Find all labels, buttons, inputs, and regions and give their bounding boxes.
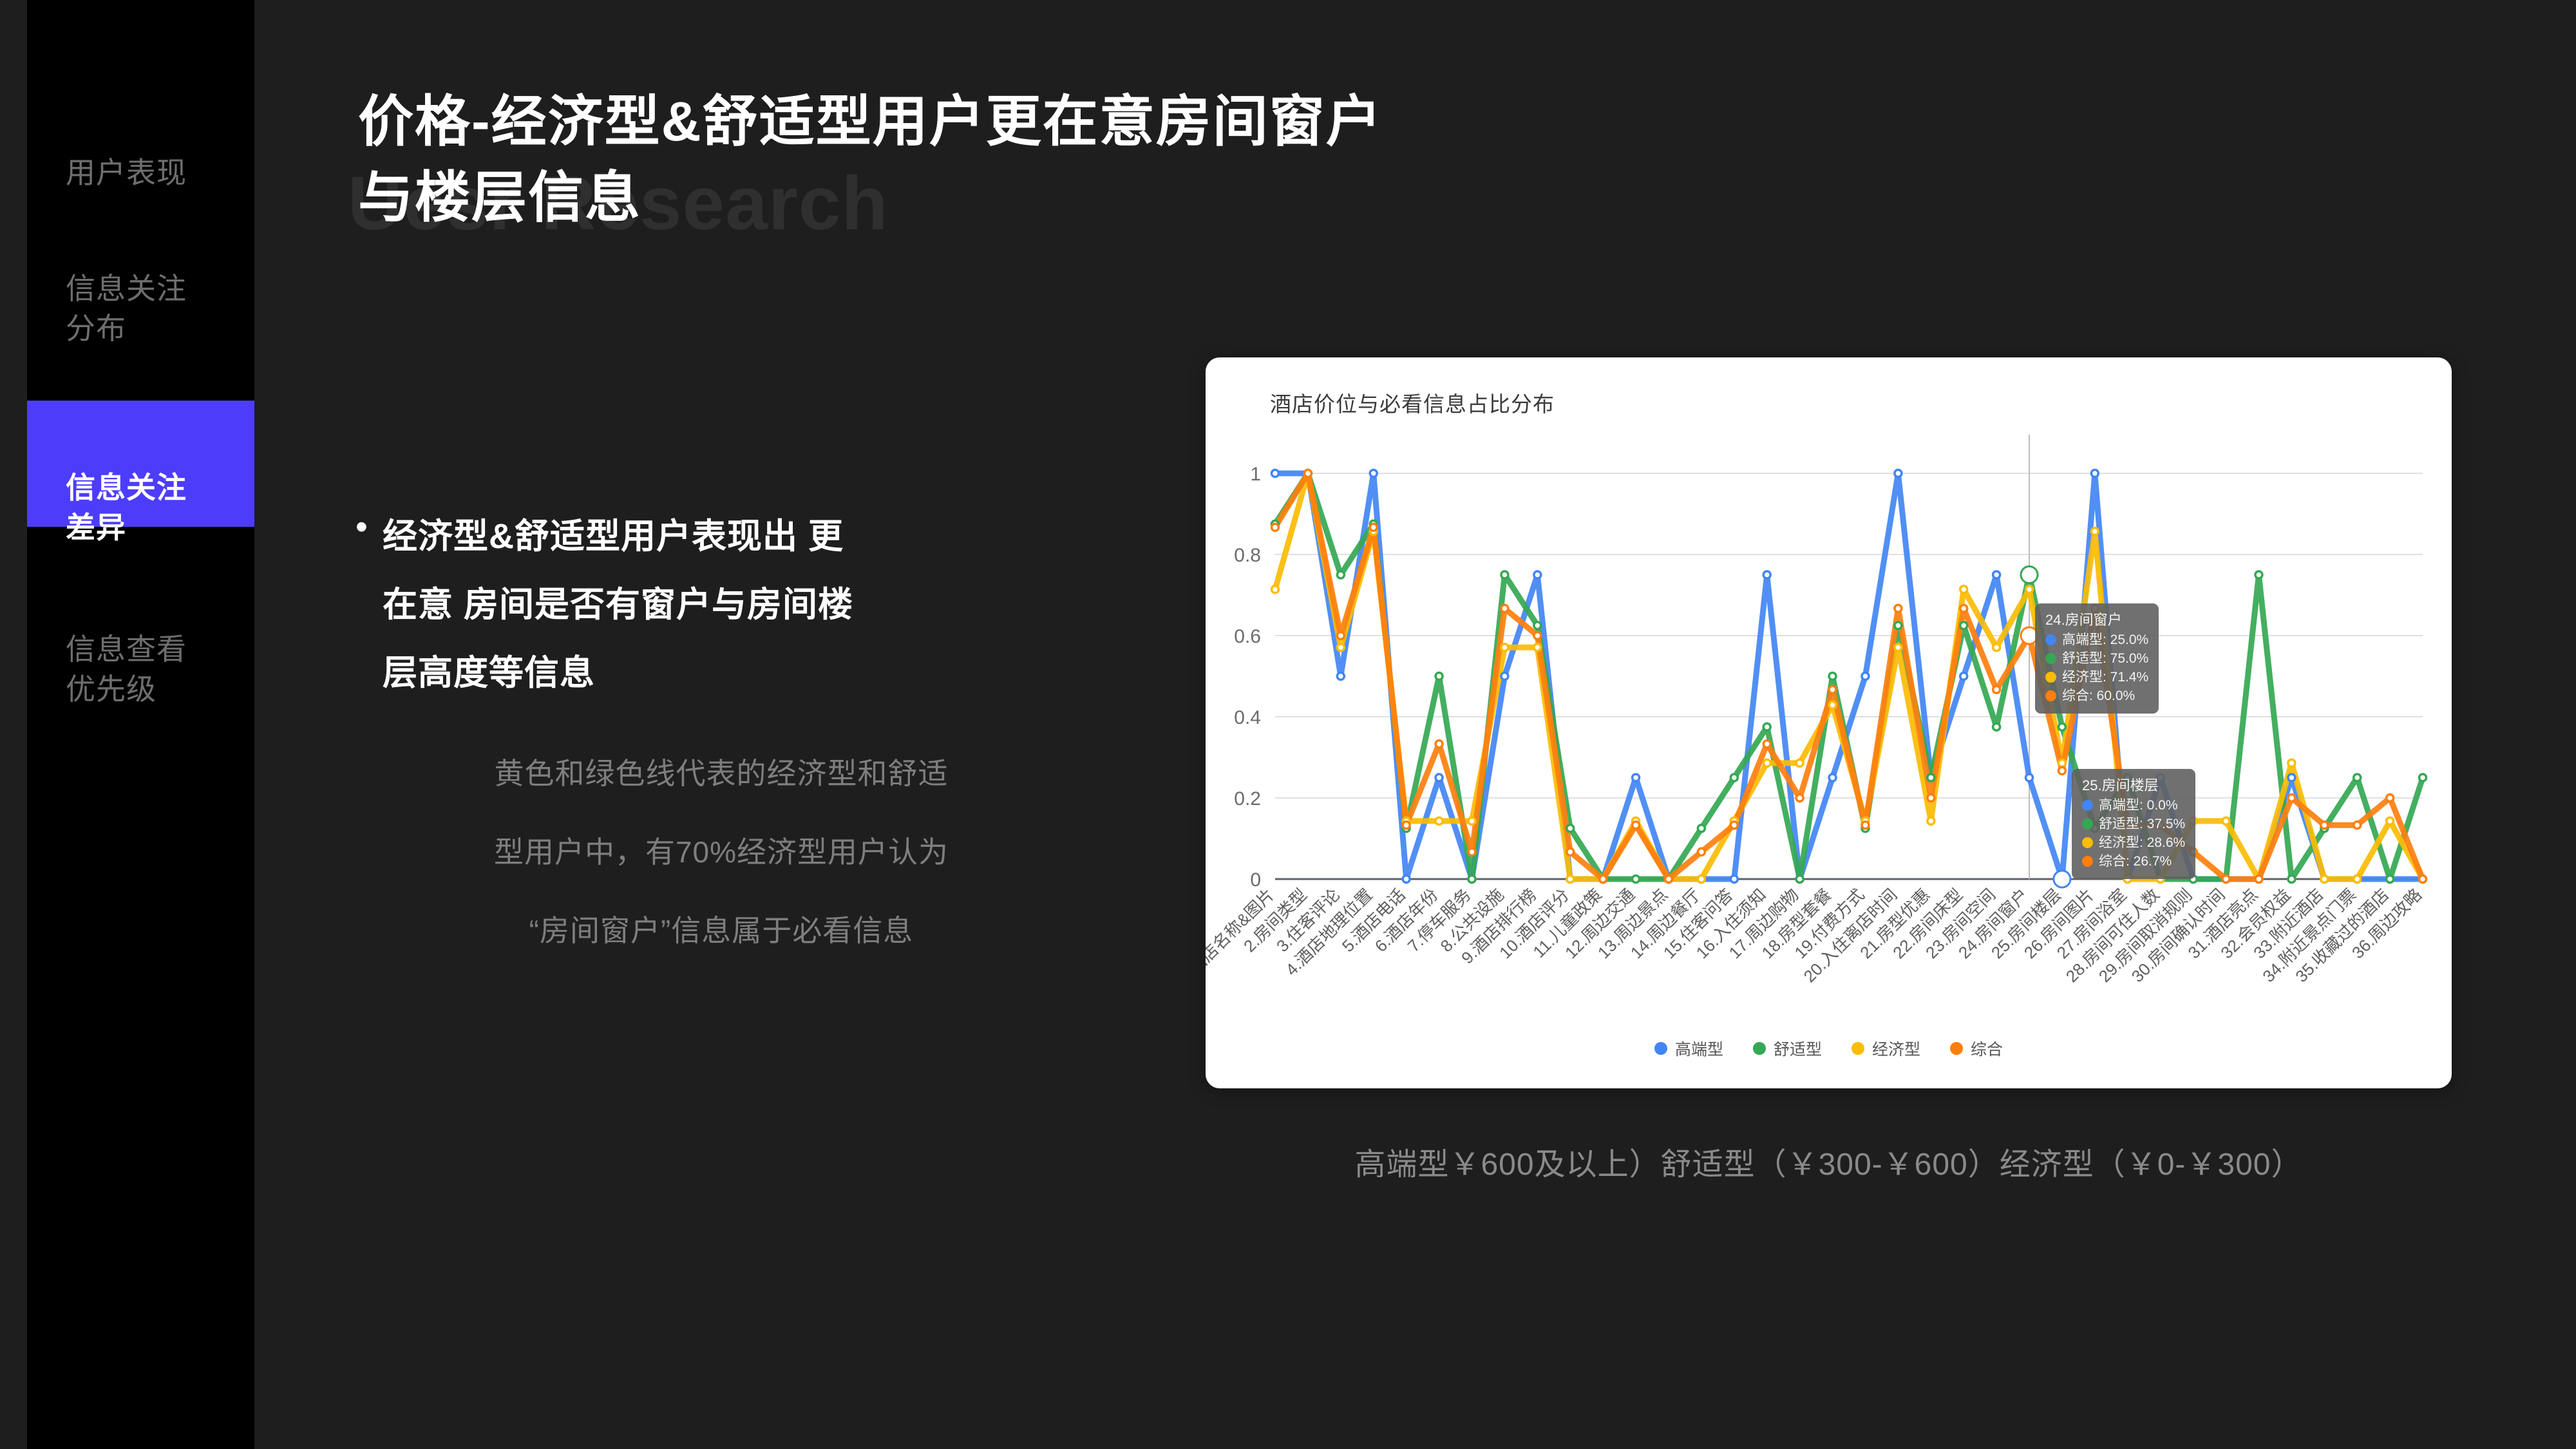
tooltip-row: 高端型: 0.0% [2082, 796, 2185, 815]
data-point[interactable] [1337, 673, 1344, 680]
tooltip-row: 高端型: 25.0% [2045, 630, 2148, 649]
key-finding-block: • 经济型&舒适型用户表现出 更 在意 房间是否有窗户与房间楼 层高度等信息 [355, 502, 1032, 707]
data-point[interactable] [1370, 470, 1377, 477]
chart-tooltip-room-floor: 25.房间楼层 高端型: 0.0% 舒适型: 37.5% 经济型: 28.6% … [2072, 769, 2195, 879]
data-point[interactable] [2354, 774, 2361, 781]
data-point[interactable] [1927, 774, 1935, 781]
data-point[interactable] [2222, 817, 2230, 824]
data-point[interactable] [1993, 686, 2000, 693]
tooltip-row: 经济型: 28.6% [2082, 833, 2185, 852]
tooltip-row: 舒适型: 37.5% [2082, 815, 2185, 833]
y-axis-tick-label: 1 [1250, 464, 1261, 485]
legend-item-premium[interactable]: 高端型 [1654, 1037, 1723, 1060]
series-color-dot-icon [2082, 837, 2093, 848]
data-point[interactable] [1993, 644, 2000, 651]
data-point[interactable] [1501, 571, 1508, 578]
legend-label: 高端型 [1675, 1037, 1723, 1060]
sidebar-item-info-view-priority[interactable]: 信息查看 优先级 [27, 589, 254, 709]
data-point[interactable] [1829, 701, 1836, 708]
data-point[interactable] [1337, 644, 1344, 651]
data-point[interactable] [1829, 774, 1836, 781]
data-point[interactable] [2288, 876, 2295, 883]
data-point[interactable] [2058, 767, 2065, 774]
data-point[interactable] [1895, 644, 1902, 651]
legend-label: 舒适型 [1774, 1037, 1822, 1060]
data-point[interactable] [1698, 848, 1705, 855]
data-point[interactable] [1895, 622, 1902, 629]
data-point[interactable] [1468, 817, 1475, 824]
data-point[interactable] [2420, 774, 2427, 781]
data-point[interactable] [1665, 876, 1672, 883]
data-point[interactable] [2321, 822, 2328, 829]
data-point[interactable] [1468, 876, 1475, 883]
data-point[interactable] [1993, 723, 2000, 730]
data-point[interactable] [2387, 876, 2394, 883]
data-point[interactable] [2387, 817, 2394, 824]
data-point[interactable] [1534, 571, 1541, 578]
data-point[interactable] [2288, 795, 2295, 802]
data-point[interactable] [2420, 876, 2427, 883]
data-point[interactable] [1730, 822, 1738, 829]
tooltip-entry: 高端型: 0.0% [2099, 796, 2178, 815]
data-point[interactable] [1698, 825, 1705, 832]
data-point[interactable] [2387, 795, 2394, 802]
y-axis-tick-label: 0.4 [1234, 707, 1261, 728]
data-point[interactable] [1763, 723, 1770, 730]
data-point[interactable] [1272, 470, 1279, 477]
data-point[interactable] [1435, 741, 1443, 748]
tooltip-row: 舒适型: 75.0% [2045, 649, 2148, 668]
legend-item-economy[interactable]: 经济型 [1851, 1037, 1920, 1060]
data-point[interactable] [1698, 876, 1705, 883]
data-point[interactable] [1370, 524, 1377, 531]
legend-color-dot-icon [1654, 1042, 1667, 1055]
data-point[interactable] [1435, 673, 1443, 680]
data-point[interactable] [2091, 470, 2098, 477]
series-color-dot-icon [2045, 634, 2056, 645]
series-color-dot-icon [2045, 672, 2056, 683]
data-point[interactable] [1567, 825, 1574, 832]
chart-tooltip-room-window: 24.房间窗户 高端型: 25.0% 舒适型: 75.0% 经济型: 71.4%… [2035, 603, 2159, 714]
y-axis-tick-label: 0.6 [1234, 626, 1261, 647]
data-point[interactable] [2288, 774, 2295, 781]
page-title: 价格-经济型&舒适型用户更在意房间窗户 与楼层信息 [358, 84, 1904, 236]
data-point[interactable] [2354, 876, 2361, 883]
data-point[interactable] [2288, 759, 2295, 766]
data-point[interactable] [1633, 822, 1640, 829]
data-point[interactable] [1960, 622, 1967, 629]
series-color-dot-icon [2082, 800, 2093, 811]
sidebar-item-user-performance[interactable]: 用户表现 [27, 113, 254, 193]
data-point[interactable] [1960, 586, 1967, 593]
data-point[interactable] [1730, 876, 1738, 883]
tooltip-entry: 舒适型: 37.5% [2099, 815, 2185, 833]
data-point[interactable] [2222, 876, 2230, 883]
legend-color-dot-icon [1753, 1042, 1766, 1055]
legend-color-dot-icon [1950, 1042, 1963, 1055]
data-point[interactable] [2026, 774, 2033, 781]
data-point[interactable] [2255, 571, 2262, 578]
data-point[interactable] [1567, 876, 1574, 883]
data-point[interactable] [1829, 686, 1836, 693]
legend-label: 综合 [1971, 1037, 2003, 1060]
legend-item-overall[interactable]: 综合 [1950, 1037, 2003, 1060]
data-point[interactable] [1796, 876, 1803, 883]
data-point[interactable] [1567, 848, 1574, 855]
tooltip-entry: 经济型: 71.4% [2062, 668, 2148, 687]
data-point[interactable] [1927, 817, 1935, 824]
sidebar-item-label: 用户表现 [66, 156, 187, 189]
data-point[interactable] [2091, 528, 2098, 535]
chart-legend: 高端型 舒适型 经济型 综合 [1206, 1037, 2452, 1060]
data-point[interactable] [1763, 741, 1770, 748]
series-color-dot-icon [2082, 819, 2093, 829]
data-point[interactable] [1730, 774, 1738, 781]
data-point[interactable] [1501, 605, 1508, 612]
data-point[interactable] [1895, 470, 1902, 477]
data-point[interactable] [2321, 876, 2328, 883]
highlighted-data-point[interactable] [2054, 871, 2070, 887]
data-point[interactable] [1337, 571, 1344, 578]
supporting-note-text: 黄色和绿色线代表的经济型和舒适 型用户中，有70%经济型用户认为 “房间窗户”信… [399, 734, 1043, 970]
data-point[interactable] [1501, 673, 1508, 680]
tooltip-entry: 综合: 60.0% [2062, 687, 2135, 705]
data-point[interactable] [1796, 759, 1803, 766]
data-point[interactable] [1895, 605, 1902, 612]
tooltip-entry: 经济型: 28.6% [2099, 833, 2185, 852]
chart-plot-area[interactable]: 00.20.40.60.811.酒店名称&图片2.房间类型3.住客评论4.酒店地… [1206, 357, 2452, 1088]
highlighted-data-point[interactable] [2021, 567, 2038, 583]
data-point[interactable] [1960, 605, 1967, 612]
legend-color-dot-icon [1851, 1042, 1864, 1055]
data-point[interactable] [1337, 632, 1344, 639]
y-axis-tick-label: 0.8 [1234, 545, 1261, 566]
data-point[interactable] [1534, 622, 1541, 629]
sidebar-item-label: 信息关注 分布 [66, 272, 187, 345]
data-point[interactable] [2255, 876, 2262, 883]
series-color-dot-icon [2045, 690, 2056, 701]
data-point[interactable] [1272, 586, 1279, 593]
sidebar-item-label: 信息查看 优先级 [66, 632, 187, 706]
data-point[interactable] [2354, 822, 2361, 829]
data-point[interactable] [2058, 759, 2065, 766]
data-point[interactable] [1435, 774, 1443, 781]
data-point[interactable] [2058, 723, 2065, 730]
tooltip-entry: 高端型: 25.0% [2062, 630, 2148, 649]
data-point[interactable] [1534, 644, 1541, 651]
data-point[interactable] [1763, 571, 1770, 578]
data-point[interactable] [1862, 673, 1869, 680]
y-axis-tick-label: 0.2 [1234, 788, 1261, 810]
y-axis-tick-label: 0 [1250, 869, 1261, 891]
data-point[interactable] [1600, 876, 1607, 883]
data-point[interactable] [1403, 876, 1410, 883]
data-point[interactable] [1796, 795, 1803, 802]
key-finding-text: 经济型&舒适型用户表现出 更 在意 房间是否有窗户与房间楼 层高度等信息 [383, 502, 853, 707]
data-point[interactable] [1633, 774, 1640, 781]
data-point[interactable] [1403, 822, 1410, 829]
data-point[interactable] [1633, 876, 1640, 883]
data-point[interactable] [1435, 817, 1443, 824]
data-point[interactable] [1993, 571, 2000, 578]
data-point[interactable] [1763, 759, 1770, 766]
data-point[interactable] [2026, 586, 2033, 593]
legend-label: 经济型 [1872, 1037, 1920, 1060]
sidebar-item-label: 信息关注 差异 [66, 471, 187, 544]
data-point[interactable] [1927, 795, 1935, 802]
data-point[interactable] [1829, 673, 1836, 680]
line-chart-svg[interactable]: 00.20.40.60.811.酒店名称&图片2.房间类型3.住客评论4.酒店地… [1206, 357, 2452, 1088]
sidebar-item-info-focus-distribution[interactable]: 信息关注 分布 [27, 229, 254, 348]
data-point[interactable] [1534, 632, 1541, 639]
series-color-dot-icon [2045, 653, 2056, 664]
data-point[interactable] [1862, 822, 1869, 829]
sidebar-item-info-focus-difference[interactable]: 信息关注 差异 [27, 401, 254, 527]
legend-item-comfort[interactable]: 舒适型 [1753, 1037, 1822, 1060]
tooltip-row: 综合: 60.0% [2045, 687, 2148, 705]
chart-caption: 高端型￥600及以上）舒适型（￥300-￥600）经济型（￥0-￥300） [1206, 1139, 2452, 1184]
data-point[interactable] [1501, 644, 1508, 651]
data-point[interactable] [1272, 524, 1279, 531]
tooltip-row: 综合: 26.7% [2082, 852, 2185, 871]
tooltip-entry: 舒适型: 75.0% [2062, 649, 2148, 668]
series-color-dot-icon [2082, 856, 2093, 867]
chart-card: 酒店价位与必看信息占比分布 00.20.40.60.811.酒店名称&图片2.房… [1206, 357, 2452, 1088]
tooltip-title: 25.房间楼层 [2082, 776, 2185, 795]
tooltip-title: 24.房间窗户 [2045, 611, 2148, 629]
data-point[interactable] [1468, 848, 1475, 855]
data-point[interactable] [1304, 470, 1311, 477]
sidebar: 用户表现 信息关注 分布 信息关注 差异 信息查看 优先级 [27, 0, 254, 1449]
tooltip-row: 经济型: 71.4% [2045, 668, 2148, 687]
tooltip-entry: 综合: 26.7% [2099, 852, 2172, 871]
data-point[interactable] [1960, 673, 1967, 680]
bullet-marker-icon: • [355, 502, 383, 551]
